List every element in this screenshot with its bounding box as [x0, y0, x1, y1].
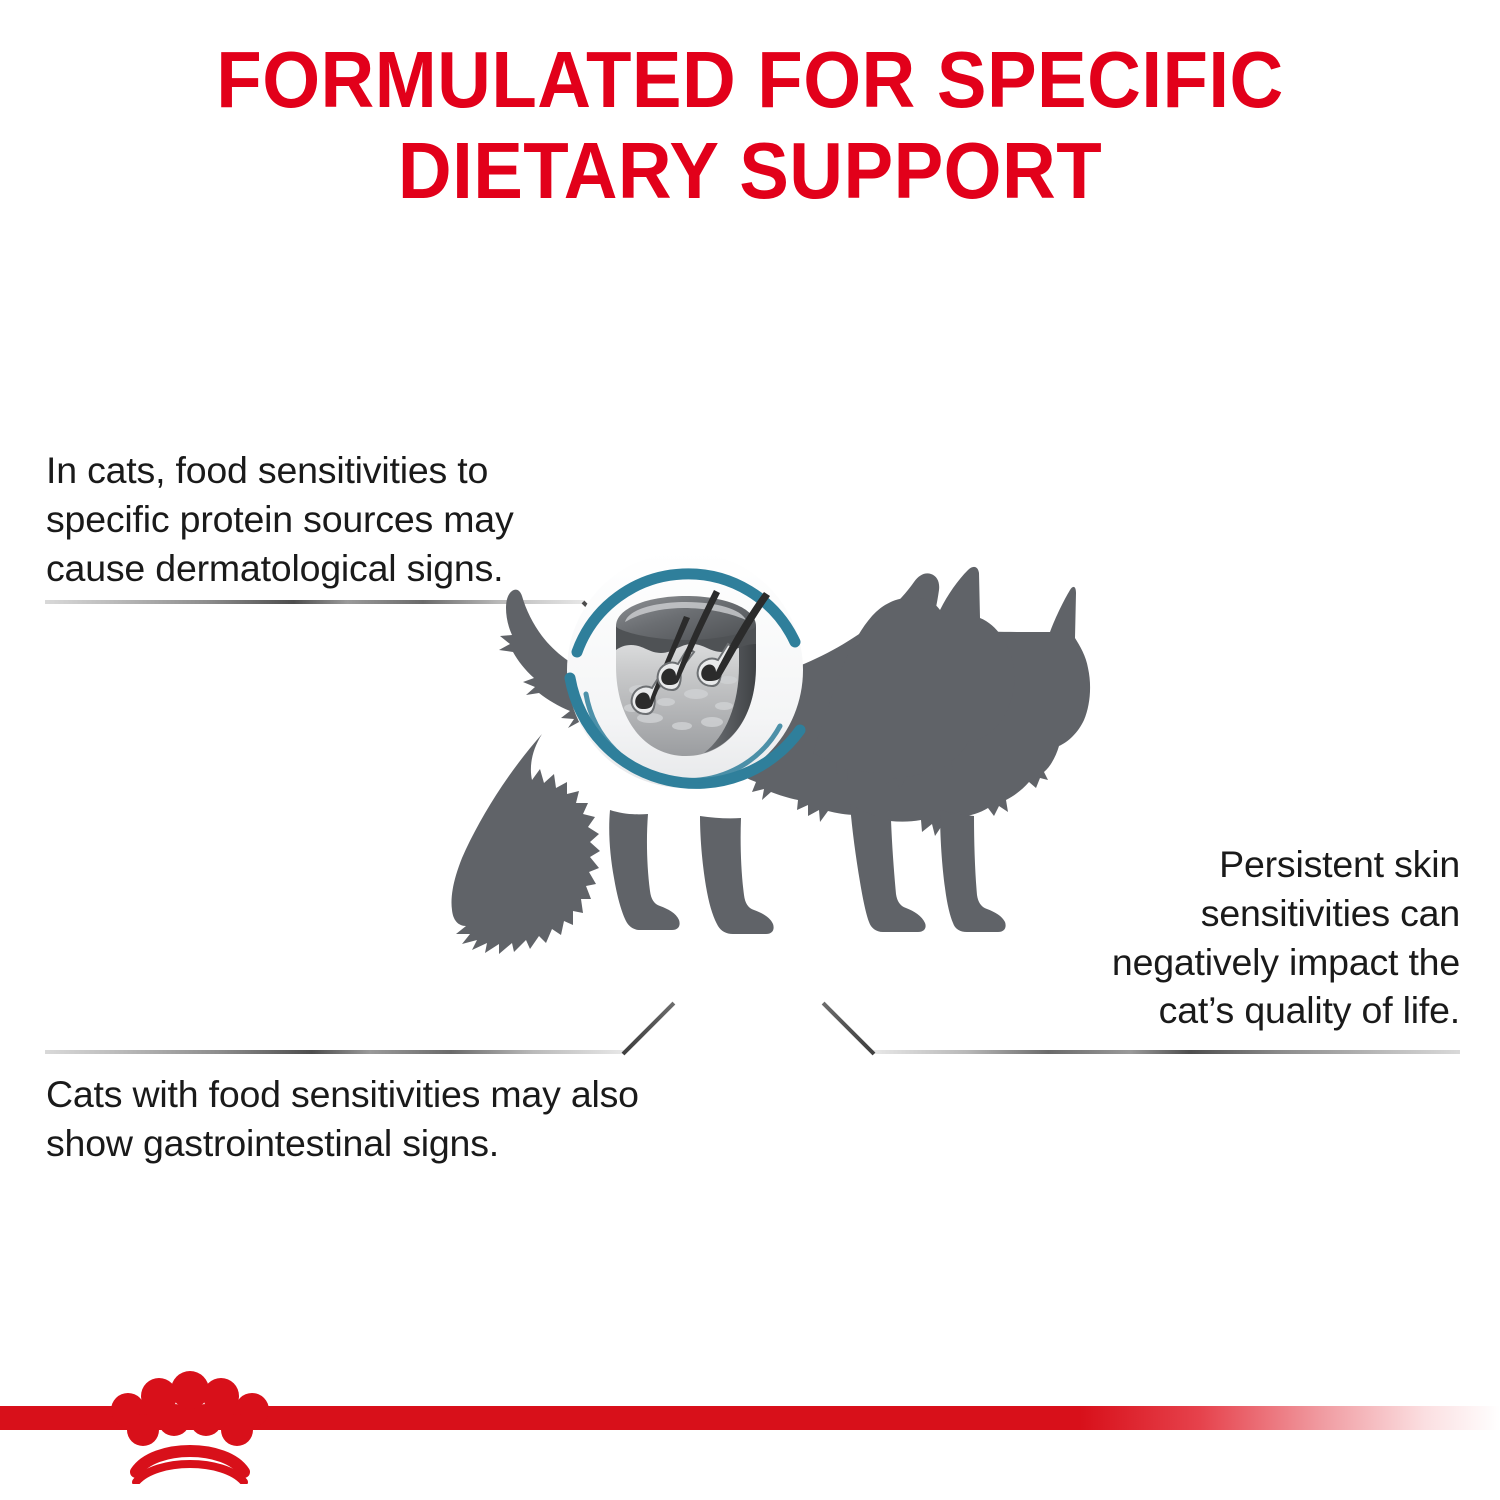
callout-gastrointestinal: Cats with food sensitivities may also sh…	[46, 1070, 746, 1168]
leader-line-diagonal	[822, 1002, 876, 1056]
page-title: FORMULATED FOR SPECIFIC DIETARY SUPPORT	[53, 34, 1448, 216]
crown-dots	[111, 1371, 269, 1446]
royal-canin-crown-logo	[106, 1368, 274, 1484]
leader-line-horizontal	[872, 1050, 1460, 1054]
leader-line-horizontal	[45, 1050, 625, 1054]
cat-illustration	[280, 560, 1100, 990]
leader-line-diagonal	[622, 1002, 676, 1056]
crown-arc-band	[136, 1451, 244, 1482]
